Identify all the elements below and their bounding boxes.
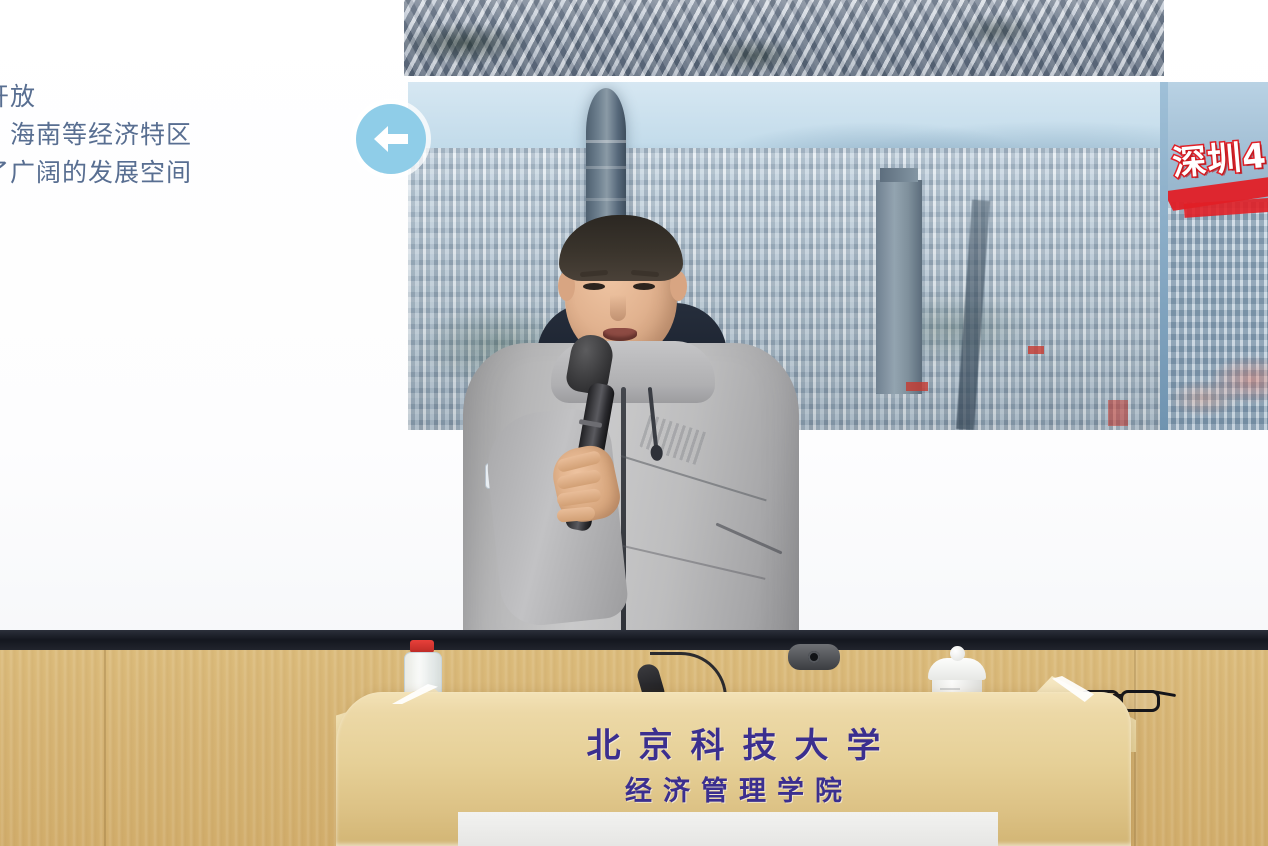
raised-arm (482, 405, 629, 629)
rooftop-sign-red-1 (906, 382, 928, 391)
back-arrow-button[interactable] (356, 104, 426, 174)
slide-text-block: 革开放 川、海南等经济特区 供了广阔的发展空间 (0, 78, 308, 192)
screenshot-root: 革开放 川、海南等经济特区 供了广阔的发展空间 深圳4 (0, 0, 1268, 846)
tea-cup-knob (950, 646, 965, 661)
webcam (788, 644, 840, 670)
slide-text-line-2: 川、海南等经济特区 (0, 116, 308, 154)
slide-text-line-3: 供了广阔的发展空间 (0, 154, 308, 192)
shenzhen-anniversary-poster: 深圳4 (1168, 82, 1268, 430)
eye-right (633, 283, 655, 290)
slide-text-line-1: 革开放 (0, 78, 308, 116)
historical-rooftops-photo (404, 0, 1164, 76)
eye-left (583, 283, 605, 290)
nose (610, 295, 626, 321)
wood-seam-1 (104, 650, 106, 846)
lectern-base-panel (458, 812, 998, 846)
slab-tower (876, 180, 922, 394)
hair (559, 215, 683, 281)
presenter (455, 215, 805, 685)
arrow-left-icon (372, 123, 410, 155)
lectern: 北京科技大学 经济管理学院 School of Economics and Ma… (336, 640, 1136, 846)
mouth (603, 328, 637, 341)
poster-city-backdrop (1168, 202, 1268, 430)
tea-cup-lid (928, 658, 986, 680)
rooftop-sign-red-3 (1108, 400, 1128, 426)
rooftop-sign-red-2 (1028, 346, 1044, 354)
poster-headline-text: 深圳4 (1170, 128, 1268, 185)
